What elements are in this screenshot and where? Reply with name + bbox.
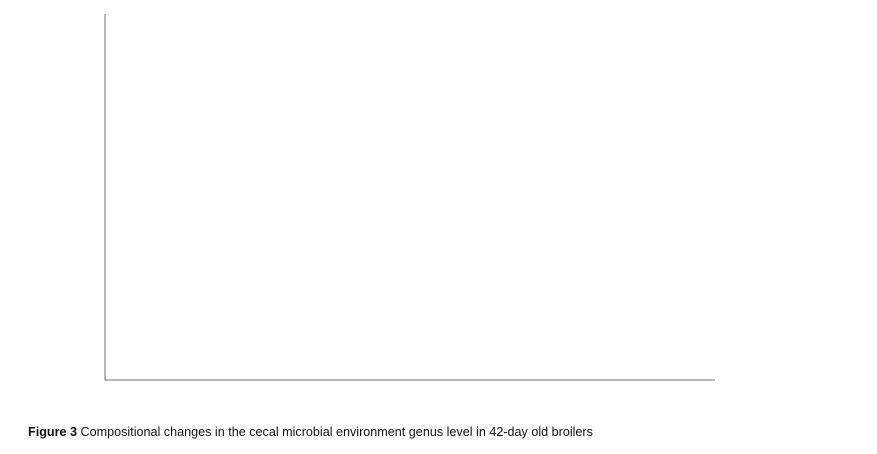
figure-caption-text: Compositional changes in the cecal micro…	[81, 425, 593, 439]
figure-caption: Figure 3 Compositional changes in the ce…	[28, 424, 858, 440]
figure-container: Figure 3 Compositional changes in the ce…	[0, 0, 877, 454]
stacked-bar-chart	[0, 0, 877, 420]
figure-caption-label: Figure 3	[28, 425, 77, 439]
chart-plot-area	[0, 0, 877, 420]
